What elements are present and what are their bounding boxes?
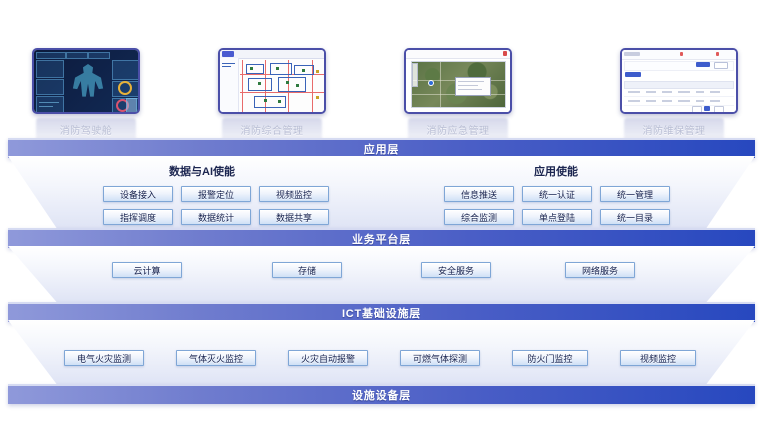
showcase-item-2[interactable]: 消防综合管理 [218, 48, 326, 114]
band-label-ict-infrastructure: ICT基础设施层 [342, 305, 421, 321]
showcase-caption-1: 消防驾驶舱 [32, 122, 140, 137]
group-title-data-ai: 数据与AI使能 [169, 163, 235, 179]
pill-gas-extinguishing-monitoring[interactable]: 气体灭火监控 [176, 350, 256, 366]
showcase-row: 消防驾驶舱 [0, 30, 763, 138]
showcase-item-3[interactable]: 消防应急管理 [404, 48, 512, 114]
pill-network-service[interactable]: 网络服务 [565, 262, 635, 278]
pill-video-surveillance[interactable]: 视频监控 [620, 350, 696, 366]
pill-storage[interactable]: 存储 [272, 262, 342, 278]
pill-electrical-fire-monitoring[interactable]: 电气火灾监测 [64, 350, 144, 366]
pill-single-sign-on[interactable]: 单点登陆 [522, 209, 592, 225]
architecture-diagram: 消防驾驶舱 [0, 0, 763, 444]
pill-device-access[interactable]: 设备接入 [103, 186, 173, 202]
thumbnail-dashboard [32, 48, 140, 114]
pill-data-sharing[interactable]: 数据共享 [259, 209, 329, 225]
band-label-business-platform: 业务平台层 [352, 231, 411, 247]
thumbnail-data-table [620, 48, 738, 114]
band-ict-infrastructure-layer: ICT基础设施层 [8, 302, 755, 322]
thumbnail-cad-plan [218, 48, 326, 114]
pill-integrated-monitoring[interactable]: 综合监测 [444, 209, 514, 225]
showcase-caption-4: 消防维保管理 [620, 122, 728, 137]
showcase-caption-2: 消防综合管理 [218, 122, 326, 137]
pill-video-monitor[interactable]: 视频监控 [259, 186, 329, 202]
band-facility-equipment-layer: 设施设备层 [8, 384, 755, 404]
pill-fire-door-monitoring[interactable]: 防火门监控 [512, 350, 588, 366]
showcase-item-1[interactable]: 消防驾驶舱 [32, 48, 140, 114]
pill-cloud-computing[interactable]: 云计算 [112, 262, 182, 278]
band-label-facility-equipment: 设施设备层 [352, 387, 411, 403]
pill-fire-auto-alarm[interactable]: 火灾自动报警 [288, 350, 368, 366]
pill-message-push[interactable]: 信息推送 [444, 186, 514, 202]
pill-unified-directory[interactable]: 统一目录 [600, 209, 670, 225]
showcase-item-4[interactable]: 消防维保管理 [620, 48, 738, 114]
band-application-layer: 应用层 [8, 138, 755, 158]
band-business-platform-layer: 业务平台层 [8, 228, 755, 248]
showcase-caption-3: 消防应急管理 [404, 122, 512, 137]
pill-unified-management[interactable]: 统一管理 [600, 186, 670, 202]
band-label-application: 应用层 [364, 141, 399, 157]
pill-alarm-location[interactable]: 报警定位 [181, 186, 251, 202]
pill-combustible-gas-detection[interactable]: 可燃气体探测 [400, 350, 480, 366]
thumbnail-satellite-map [404, 48, 512, 114]
pill-security-service[interactable]: 安全服务 [421, 262, 491, 278]
pill-data-statistics[interactable]: 数据统计 [181, 209, 251, 225]
pill-unified-auth[interactable]: 统一认证 [522, 186, 592, 202]
group-title-app-enable: 应用使能 [534, 163, 578, 179]
pill-command-dispatch[interactable]: 指挥调度 [103, 209, 173, 225]
